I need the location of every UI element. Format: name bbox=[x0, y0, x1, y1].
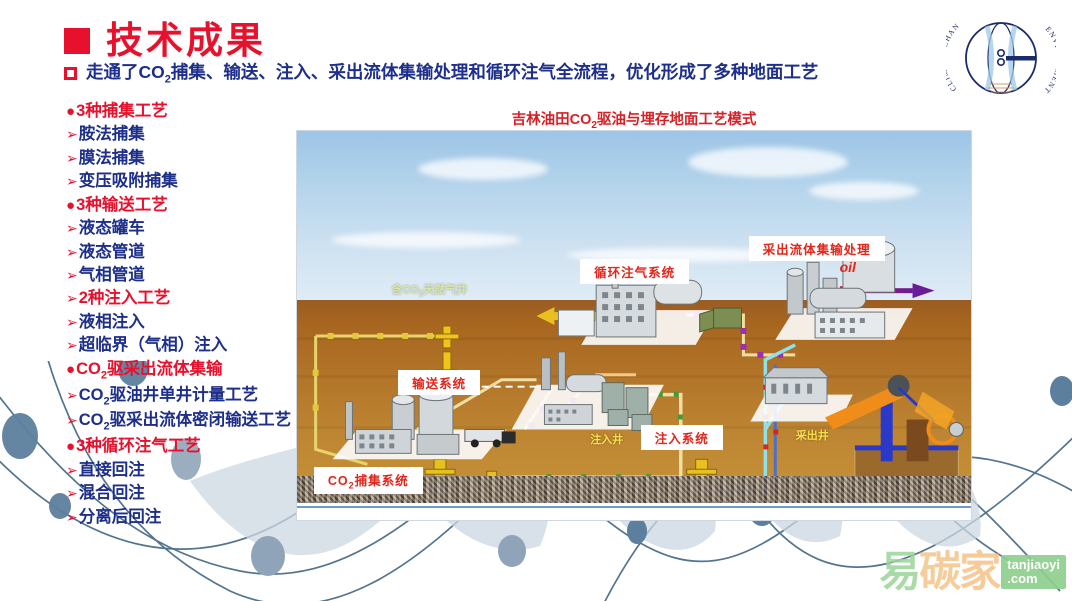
booster-station bbox=[512, 352, 664, 431]
gaswell-label-post: 天然气井 bbox=[423, 284, 467, 296]
bullet-label: CO2驱采出流体密闭输送工艺 bbox=[79, 409, 291, 435]
bullet-item: ➢超临界（气相）注入 bbox=[66, 334, 296, 357]
bullet-item: ➢气相管道 bbox=[66, 264, 296, 287]
square-bullet-icon bbox=[64, 67, 77, 80]
bullet-label: CO2驱采出流体集输 bbox=[76, 358, 222, 384]
subtitle-label: 走通了CO2捕集、输送、注入、采出流体集输处理和循环注气全流程，优化形成了多种地… bbox=[86, 62, 818, 86]
bullet-item: ➢分离后回注 bbox=[66, 506, 296, 529]
bullet-label: 3种捕集工艺 bbox=[76, 100, 168, 123]
arrow-bullet-icon: ➢ bbox=[66, 125, 78, 145]
bullet-label: 混合回注 bbox=[79, 482, 145, 505]
logo-right-text: ENVIRONMENT bbox=[1042, 25, 1056, 96]
bullet-post: 驱采出流体密闭输送工艺 bbox=[110, 411, 292, 429]
label-injection-system: 注入系统 bbox=[641, 425, 723, 450]
label-produced-fluid-gathering: 采出流体集输处理 bbox=[749, 236, 885, 261]
caption-post: 驱油与埋存地面工艺模式 bbox=[597, 112, 757, 128]
arrow-bullet-icon: ➢ bbox=[66, 313, 78, 333]
bullet-label: 分离后回注 bbox=[79, 506, 162, 529]
bullet-item: ➢CO2驱采出流体密闭输送工艺 bbox=[66, 409, 296, 435]
page-title: 技术成果 bbox=[64, 22, 266, 59]
bullet-label: 液态罐车 bbox=[79, 217, 145, 240]
bullet-item: ●3种循环注气工艺 bbox=[66, 435, 296, 458]
bullet-label: 3种循环注气工艺 bbox=[76, 435, 201, 458]
title-bullet-square bbox=[64, 28, 90, 54]
capture-label-pre: CO bbox=[328, 474, 349, 488]
bullet-item: ➢混合回注 bbox=[66, 482, 296, 505]
arrow-bullet-icon: ➢ bbox=[66, 484, 78, 504]
logo-left-text: CLIMATE CHANGE bbox=[946, 6, 961, 93]
bullet-post: 驱采出流体集输 bbox=[107, 360, 223, 378]
subtitle-pre: 走通了CO bbox=[86, 62, 165, 82]
bullet-item: ➢直接回注 bbox=[66, 459, 296, 482]
co2-capture-plant bbox=[333, 389, 516, 460]
process-diagram-image: 循环注气系统 采出流体集输处理 输送系统 注入系统 CO2捕集系统 含CO2天然… bbox=[296, 130, 972, 521]
label-co2-natural-gas-well: 含CO2天然气井 bbox=[391, 281, 467, 298]
label-oil-tank: oil bbox=[840, 259, 856, 275]
watermark-site-line1: tanjiaoyi bbox=[1007, 558, 1060, 572]
slide-canvas: 技术成果 走通了CO2捕集、输送、注入、采出流体集输处理和循环注气全流程，优化形… bbox=[0, 0, 1072, 601]
bullet-item: ➢液态管道 bbox=[66, 241, 296, 264]
bullet-item: ●3种输送工艺 bbox=[66, 194, 296, 217]
caption-pre: 吉林油田CO bbox=[512, 112, 592, 128]
round-bullet-icon: ● bbox=[66, 359, 75, 380]
bullet-item: ➢膜法捕集 bbox=[66, 147, 296, 170]
arrow-bullet-icon: ➢ bbox=[66, 461, 78, 481]
bullet-label: 膜法捕集 bbox=[79, 147, 145, 170]
bullet-pre: CO bbox=[79, 386, 104, 404]
label-co2-capture-system: CO2捕集系统 bbox=[314, 467, 423, 494]
bullet-pre: CO bbox=[79, 411, 104, 429]
round-bullet-icon: ● bbox=[66, 195, 75, 216]
arrow-bullet-icon: ➢ bbox=[66, 172, 78, 192]
label-transport-system: 输送系统 bbox=[398, 370, 480, 395]
bullet-item: ●CO2驱采出流体集输 bbox=[66, 358, 296, 384]
title-label: 技术成果 bbox=[106, 22, 266, 59]
round-bullet-icon: ● bbox=[66, 436, 75, 457]
svg-text:CLIMATE CHANGE: CLIMATE CHANGE bbox=[946, 6, 961, 93]
watermark-char-1: 易 bbox=[879, 548, 919, 595]
pipeline-network bbox=[297, 131, 971, 520]
bullet-item: ●3种捕集工艺 bbox=[66, 100, 296, 123]
watermark-chinese: 易碳家 bbox=[879, 551, 999, 593]
arrow-bullet-icon: ➢ bbox=[66, 508, 78, 528]
watermark-char-3: 家 bbox=[959, 548, 999, 595]
horizon-line bbox=[297, 506, 971, 508]
watermark-site-line2: .com bbox=[1007, 572, 1060, 586]
label-production-well: 采出井 bbox=[796, 427, 829, 443]
bullet-item: ➢变压吸附捕集 bbox=[66, 170, 296, 193]
watermark: 易碳家 tanjiaoyi .com bbox=[879, 551, 1066, 593]
watermark-char-2: 碳 bbox=[919, 548, 959, 595]
bullet-item: ➢液态罐车 bbox=[66, 217, 296, 240]
arrow-bullet-icon: ➢ bbox=[66, 243, 78, 263]
watermark-site: tanjiaoyi .com bbox=[1001, 555, 1066, 588]
subtitle-row: 走通了CO2捕集、输送、注入、采出流体集输处理和循环注气全流程，优化形成了多种地… bbox=[64, 62, 818, 86]
arrow-bullet-icon: ➢ bbox=[66, 411, 78, 431]
bullet-item: ➢2种注入工艺 bbox=[66, 287, 296, 310]
arrow-bullet-icon: ➢ bbox=[66, 149, 78, 169]
bullet-label: 直接回注 bbox=[79, 459, 145, 482]
bullet-label: 液态管道 bbox=[79, 241, 145, 264]
arrow-bullet-icon: ➢ bbox=[66, 266, 78, 286]
bullet-label: 气相管道 bbox=[79, 264, 145, 287]
arrow-bullet-icon: ➢ bbox=[66, 336, 78, 356]
bullet-item: ➢液相注入 bbox=[66, 311, 296, 334]
subtitle-post: 捕集、输送、注入、采出流体集输处理和循环注气全流程，优化形成了多种地面工艺 bbox=[171, 62, 819, 82]
gaswell-label-pre: 含CO bbox=[391, 284, 419, 296]
bullet-item: ➢CO2驱油井单井计量工艺 bbox=[66, 384, 296, 410]
arrow-bullet-icon: ➢ bbox=[66, 219, 78, 239]
bullet-list: ●3种捕集工艺➢胺法捕集➢膜法捕集➢变压吸附捕集●3种输送工艺➢液态罐车➢液态管… bbox=[66, 100, 296, 529]
capture-label-post: 捕集系统 bbox=[355, 474, 409, 488]
bullet-label: 超临界（气相）注入 bbox=[79, 334, 228, 357]
arrow-bullet-icon: ➢ bbox=[66, 289, 78, 309]
bullet-label: 2种注入工艺 bbox=[79, 287, 171, 310]
svg-text:ENVIRONMENT: ENVIRONMENT bbox=[1042, 25, 1056, 96]
arrow-bullet-icon: ➢ bbox=[66, 386, 78, 406]
round-bullet-icon: ● bbox=[66, 101, 75, 122]
label-injection-well: 注入井 bbox=[590, 431, 623, 447]
diagram-caption: 吉林油田CO2驱油与埋存地面工艺模式 bbox=[296, 108, 972, 131]
bullet-item: ➢胺法捕集 bbox=[66, 123, 296, 146]
bullet-label: 3种输送工艺 bbox=[76, 194, 168, 217]
climate-change-environment-logo: CLIMATE CHANGE ENVIRONMENT bbox=[946, 6, 1056, 111]
bullet-label: 液相注入 bbox=[79, 311, 145, 334]
label-recycle-injection-system: 循环注气系统 bbox=[580, 259, 689, 284]
bullet-label: CO2驱油井单井计量工艺 bbox=[79, 384, 258, 410]
bullet-label: 变压吸附捕集 bbox=[79, 170, 178, 193]
bullet-label: 胺法捕集 bbox=[79, 123, 145, 146]
bullet-pre: CO bbox=[76, 360, 101, 378]
pumpjack-icon bbox=[825, 375, 963, 487]
bullet-post: 驱油井单井计量工艺 bbox=[110, 386, 259, 404]
